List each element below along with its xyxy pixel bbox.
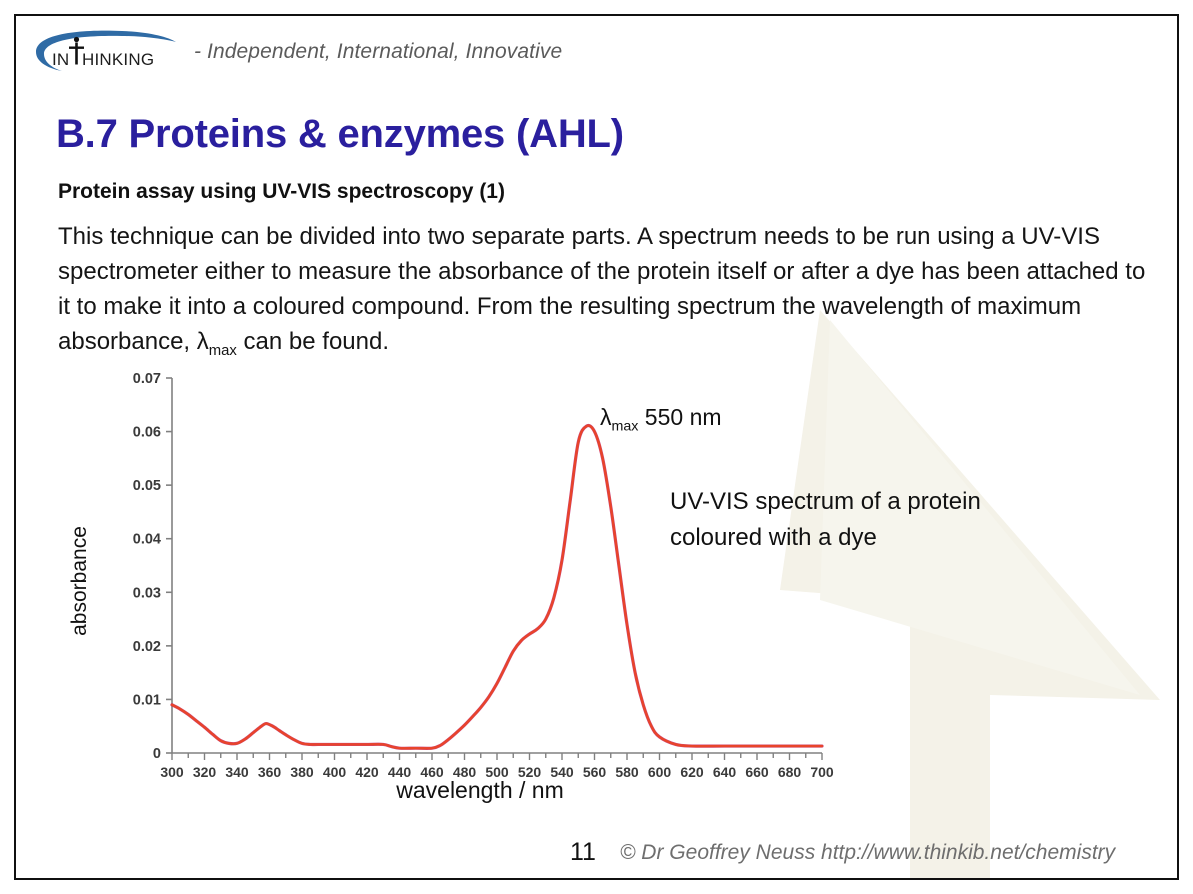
axis-lines xyxy=(172,378,822,753)
page-number: 11 xyxy=(570,838,596,867)
inthinking-swoosh-logo-icon: IN HINKING xyxy=(30,28,180,76)
x-tick-label: 700 xyxy=(810,764,834,780)
x-axis-label: wavelength / nm xyxy=(395,777,563,803)
lambda-max-symbol: λ xyxy=(600,404,612,430)
y-tick-label: 0.05 xyxy=(133,478,161,494)
y-tick-label: 0.01 xyxy=(133,692,161,708)
lambda-symbol: λ xyxy=(197,328,209,355)
x-tick-label: 680 xyxy=(778,764,802,780)
x-axis-ticks: 3003203403603804004204404604805005205405… xyxy=(160,753,834,780)
x-tick-label: 620 xyxy=(680,764,704,780)
x-tick-label: 640 xyxy=(713,764,737,780)
y-tick-label: 0.04 xyxy=(133,532,161,548)
y-tick-label: 0 xyxy=(153,746,161,762)
x-tick-label: 660 xyxy=(745,764,769,780)
x-tick-label: 420 xyxy=(355,764,379,780)
y-tick-label: 0.03 xyxy=(133,585,161,601)
x-tick-label: 320 xyxy=(193,764,217,780)
x-tick-label: 380 xyxy=(290,764,314,780)
lambda-max-value: 550 nm xyxy=(638,404,721,430)
svg-text:IN: IN xyxy=(52,50,69,69)
spectrum-trace-underlay xyxy=(172,426,822,749)
y-axis-label: absorbance xyxy=(68,526,91,636)
x-tick-label: 360 xyxy=(258,764,282,780)
x-tick-label: 580 xyxy=(615,764,639,780)
section-subtitle: Protein assay using UV-VIS spectroscopy … xyxy=(58,180,505,204)
spectrum-plot: absorbance 00.010.020.030.040.050.060.07… xyxy=(60,366,850,816)
y-tick-label: 0.02 xyxy=(133,639,161,655)
slide: IN HINKING - Independent, International,… xyxy=(0,0,1193,894)
x-tick-label: 340 xyxy=(225,764,249,780)
copyright-notice: © Dr Geoffrey Neuss http://www.thinkib.n… xyxy=(620,841,1115,865)
x-tick-label: 300 xyxy=(160,764,184,780)
x-tick-label: 600 xyxy=(648,764,672,780)
uv-vis-spectrum-chart: absorbance 00.010.020.030.040.050.060.07… xyxy=(60,366,850,816)
spectrum-trace xyxy=(172,426,822,749)
header-tagline: - Independent, International, Innovative xyxy=(194,40,562,64)
slide-header: IN HINKING - Independent, International,… xyxy=(30,26,562,78)
body-text-part2: can be found. xyxy=(237,328,389,355)
page-title: B.7 Proteins & enzymes (AHL) xyxy=(56,112,624,157)
lambda-max-annotation: λmax 550 nm xyxy=(600,404,722,434)
svg-text:HINKING: HINKING xyxy=(82,50,154,69)
lambda-max-subscript: max xyxy=(612,419,639,435)
x-tick-label: 400 xyxy=(323,764,347,780)
chart-caption: UV-VIS spectrum of a protein coloured wi… xyxy=(670,484,1070,556)
body-text-part1: This technique can be divided into two s… xyxy=(58,223,1145,355)
x-tick-label: 560 xyxy=(583,764,607,780)
lambda-subscript: max xyxy=(209,343,237,359)
y-tick-label: 0.07 xyxy=(133,371,161,387)
y-tick-label: 0.06 xyxy=(133,425,161,441)
body-paragraph: This technique can be divided into two s… xyxy=(58,219,1156,359)
spectrum-curve xyxy=(172,426,822,749)
y-axis-ticks: 00.010.020.030.040.050.060.07 xyxy=(133,371,172,762)
